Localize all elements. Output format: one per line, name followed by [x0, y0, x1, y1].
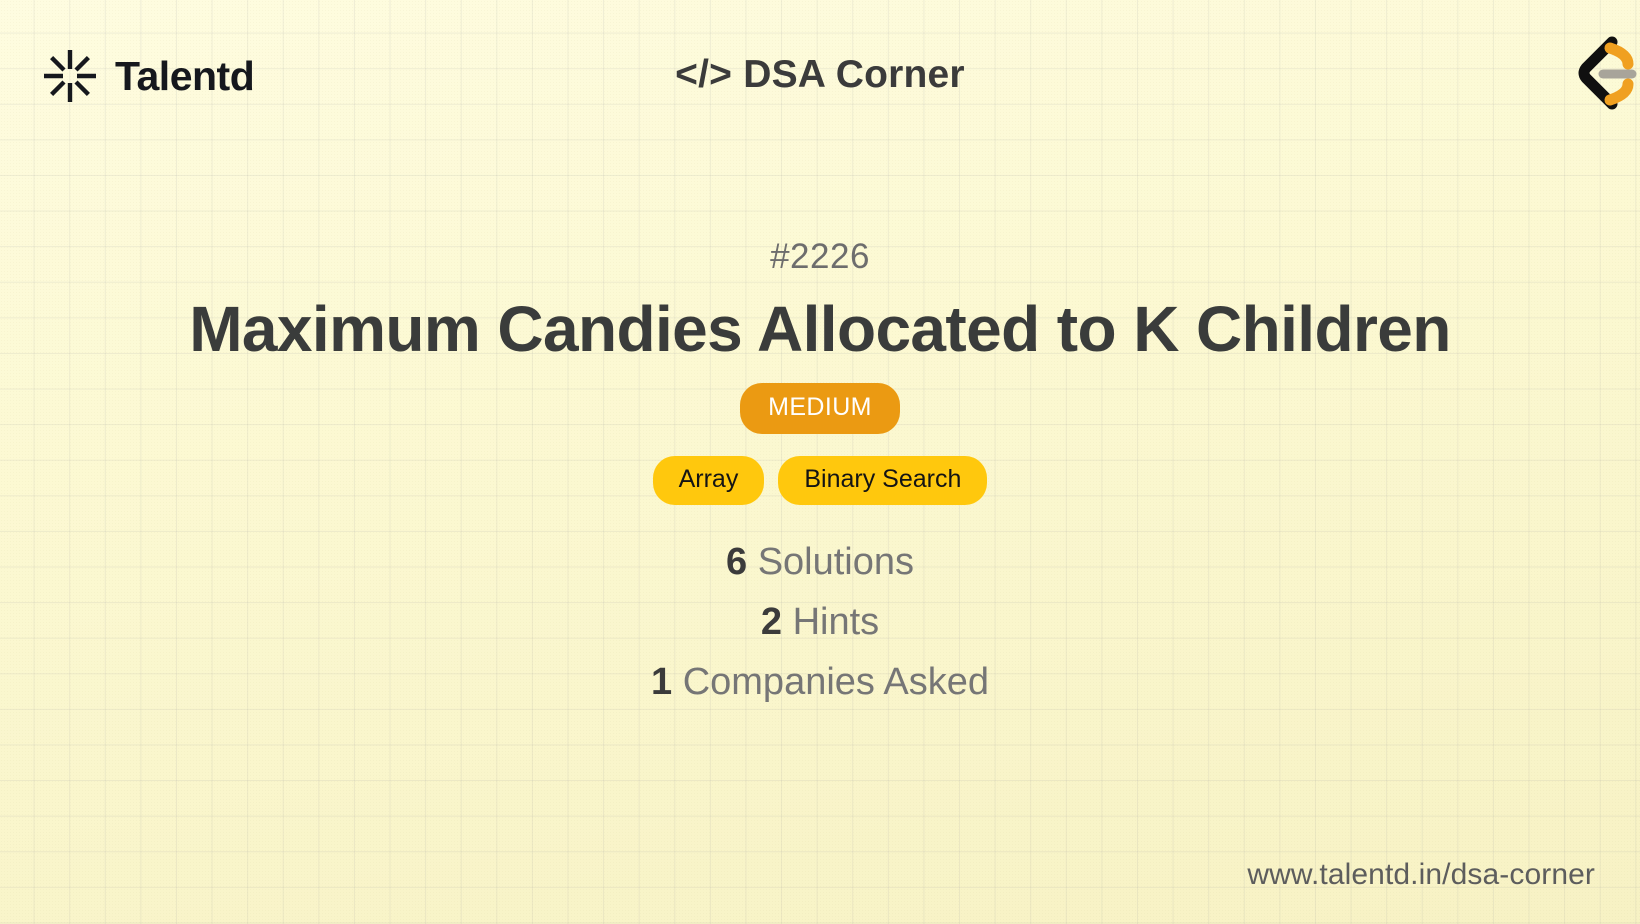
tag-chip[interactable]: Binary Search — [778, 456, 987, 505]
page-title-text: DSA Corner — [743, 53, 965, 96]
problem-card: #2226 Maximum Candies Allocated to K Chi… — [0, 155, 1640, 814]
stat-value: 1 — [651, 661, 672, 703]
stat-row: 1 Companies Asked — [651, 663, 989, 701]
footer-url[interactable]: www.talentd.in/dsa-corner — [1247, 858, 1595, 892]
stat-label: Companies Asked — [683, 661, 989, 703]
header: Talentd </> DSA Corner — [0, 0, 1640, 155]
stats-list: 6 Solutions 2 Hints 1 Companies Asked — [651, 543, 989, 701]
stat-value: 6 — [726, 541, 747, 583]
problem-title: Maximum Candies Allocated to K Children — [189, 296, 1451, 363]
dsa-corner-card: Talentd </> DSA Corner #2226 Maximum Can… — [0, 0, 1640, 924]
stat-value: 2 — [761, 601, 782, 643]
tag-list: Array Binary Search — [653, 456, 988, 505]
page-title: </> DSA Corner — [0, 53, 1640, 97]
tag-chip[interactable]: Array — [653, 456, 765, 505]
code-brackets-icon: </> — [675, 53, 732, 96]
talentd-c-mark-icon — [1550, 26, 1640, 122]
problem-number: #2226 — [770, 239, 870, 274]
stat-row: 6 Solutions — [726, 543, 914, 581]
stat-label: Solutions — [758, 541, 914, 583]
stat-label: Hints — [793, 601, 880, 643]
stat-row: 2 Hints — [761, 603, 879, 641]
difficulty-badge: MEDIUM — [740, 383, 900, 434]
